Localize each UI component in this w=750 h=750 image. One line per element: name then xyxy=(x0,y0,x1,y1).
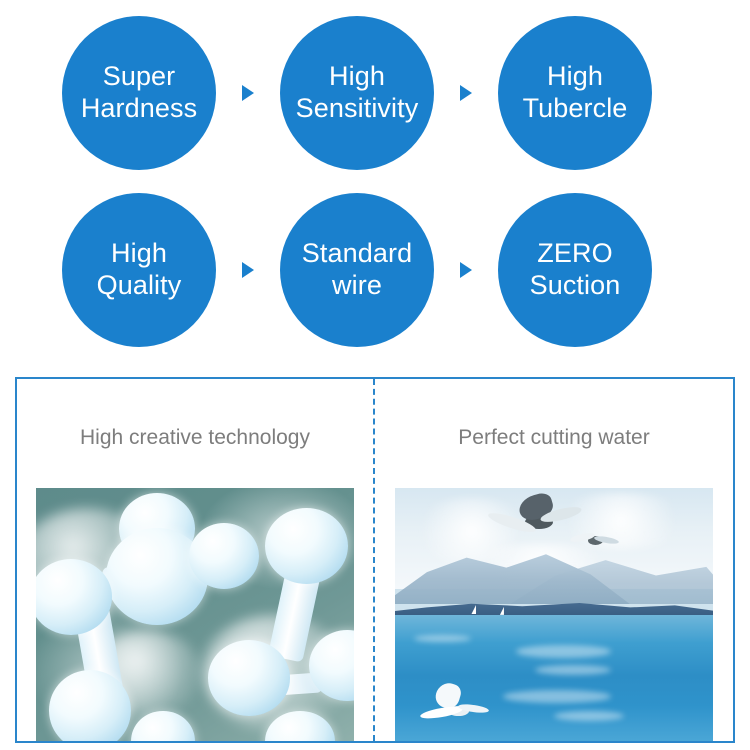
showcase-column-left: High creative technology xyxy=(17,379,375,741)
showcase-title-right: Perfect cutting water xyxy=(458,427,649,448)
feature-label-line1: ZERO xyxy=(537,238,612,270)
triangle-right-icon xyxy=(242,262,254,278)
feature-label-line2: wire xyxy=(332,270,382,302)
feature-label-line2: Sensitivity xyxy=(296,93,419,125)
row-2-arrow-2 xyxy=(434,193,498,347)
feature-label-line2: Suction xyxy=(530,270,621,302)
feature-label-line1: Super xyxy=(103,61,176,93)
row-2-arrow-1 xyxy=(216,193,280,347)
feature-circle-high-quality[interactable]: High Quality xyxy=(62,193,216,347)
feature-label-line2: Tubercle xyxy=(523,93,628,125)
feature-row-2: High Quality Standard wire ZERO Suction xyxy=(0,185,750,355)
water-molecule-image xyxy=(36,488,354,741)
showcase-column-right: Perfect cutting water xyxy=(375,379,733,741)
showcase-panel: High creative technology Perfect cutting… xyxy=(15,377,735,743)
triangle-right-icon xyxy=(242,85,254,101)
gull-large-icon xyxy=(490,498,585,554)
feature-circle-high-tubercle[interactable]: High Tubercle xyxy=(498,16,652,170)
feature-circles-section: Super Hardness High Sensitivity High Tub… xyxy=(0,0,750,360)
feature-label-line1: Standard xyxy=(302,238,412,270)
feature-circle-zero-suction[interactable]: ZERO Suction xyxy=(498,193,652,347)
feature-label-line1: High xyxy=(547,61,603,93)
gull-foreground-icon xyxy=(420,685,490,725)
feature-circle-high-sensitivity[interactable]: High Sensitivity xyxy=(280,16,434,170)
row-1-arrow-1 xyxy=(216,16,280,170)
feature-circle-super-hardness[interactable]: Super Hardness xyxy=(62,16,216,170)
triangle-right-icon xyxy=(460,262,472,278)
feature-label-line2: Quality xyxy=(97,270,182,302)
row-1-arrow-2 xyxy=(434,16,498,170)
showcase-title-left: High creative technology xyxy=(80,427,310,448)
feature-circle-standard-wire[interactable]: Standard wire xyxy=(280,193,434,347)
feature-label-line1: High xyxy=(111,238,167,270)
seascape-image xyxy=(395,488,713,741)
triangle-right-icon xyxy=(460,85,472,101)
feature-row-1: Super Hardness High Sensitivity High Tub… xyxy=(0,8,750,178)
gull-small-icon xyxy=(573,528,618,553)
feature-label-line1: High xyxy=(329,61,385,93)
feature-label-line2: Hardness xyxy=(81,93,197,125)
